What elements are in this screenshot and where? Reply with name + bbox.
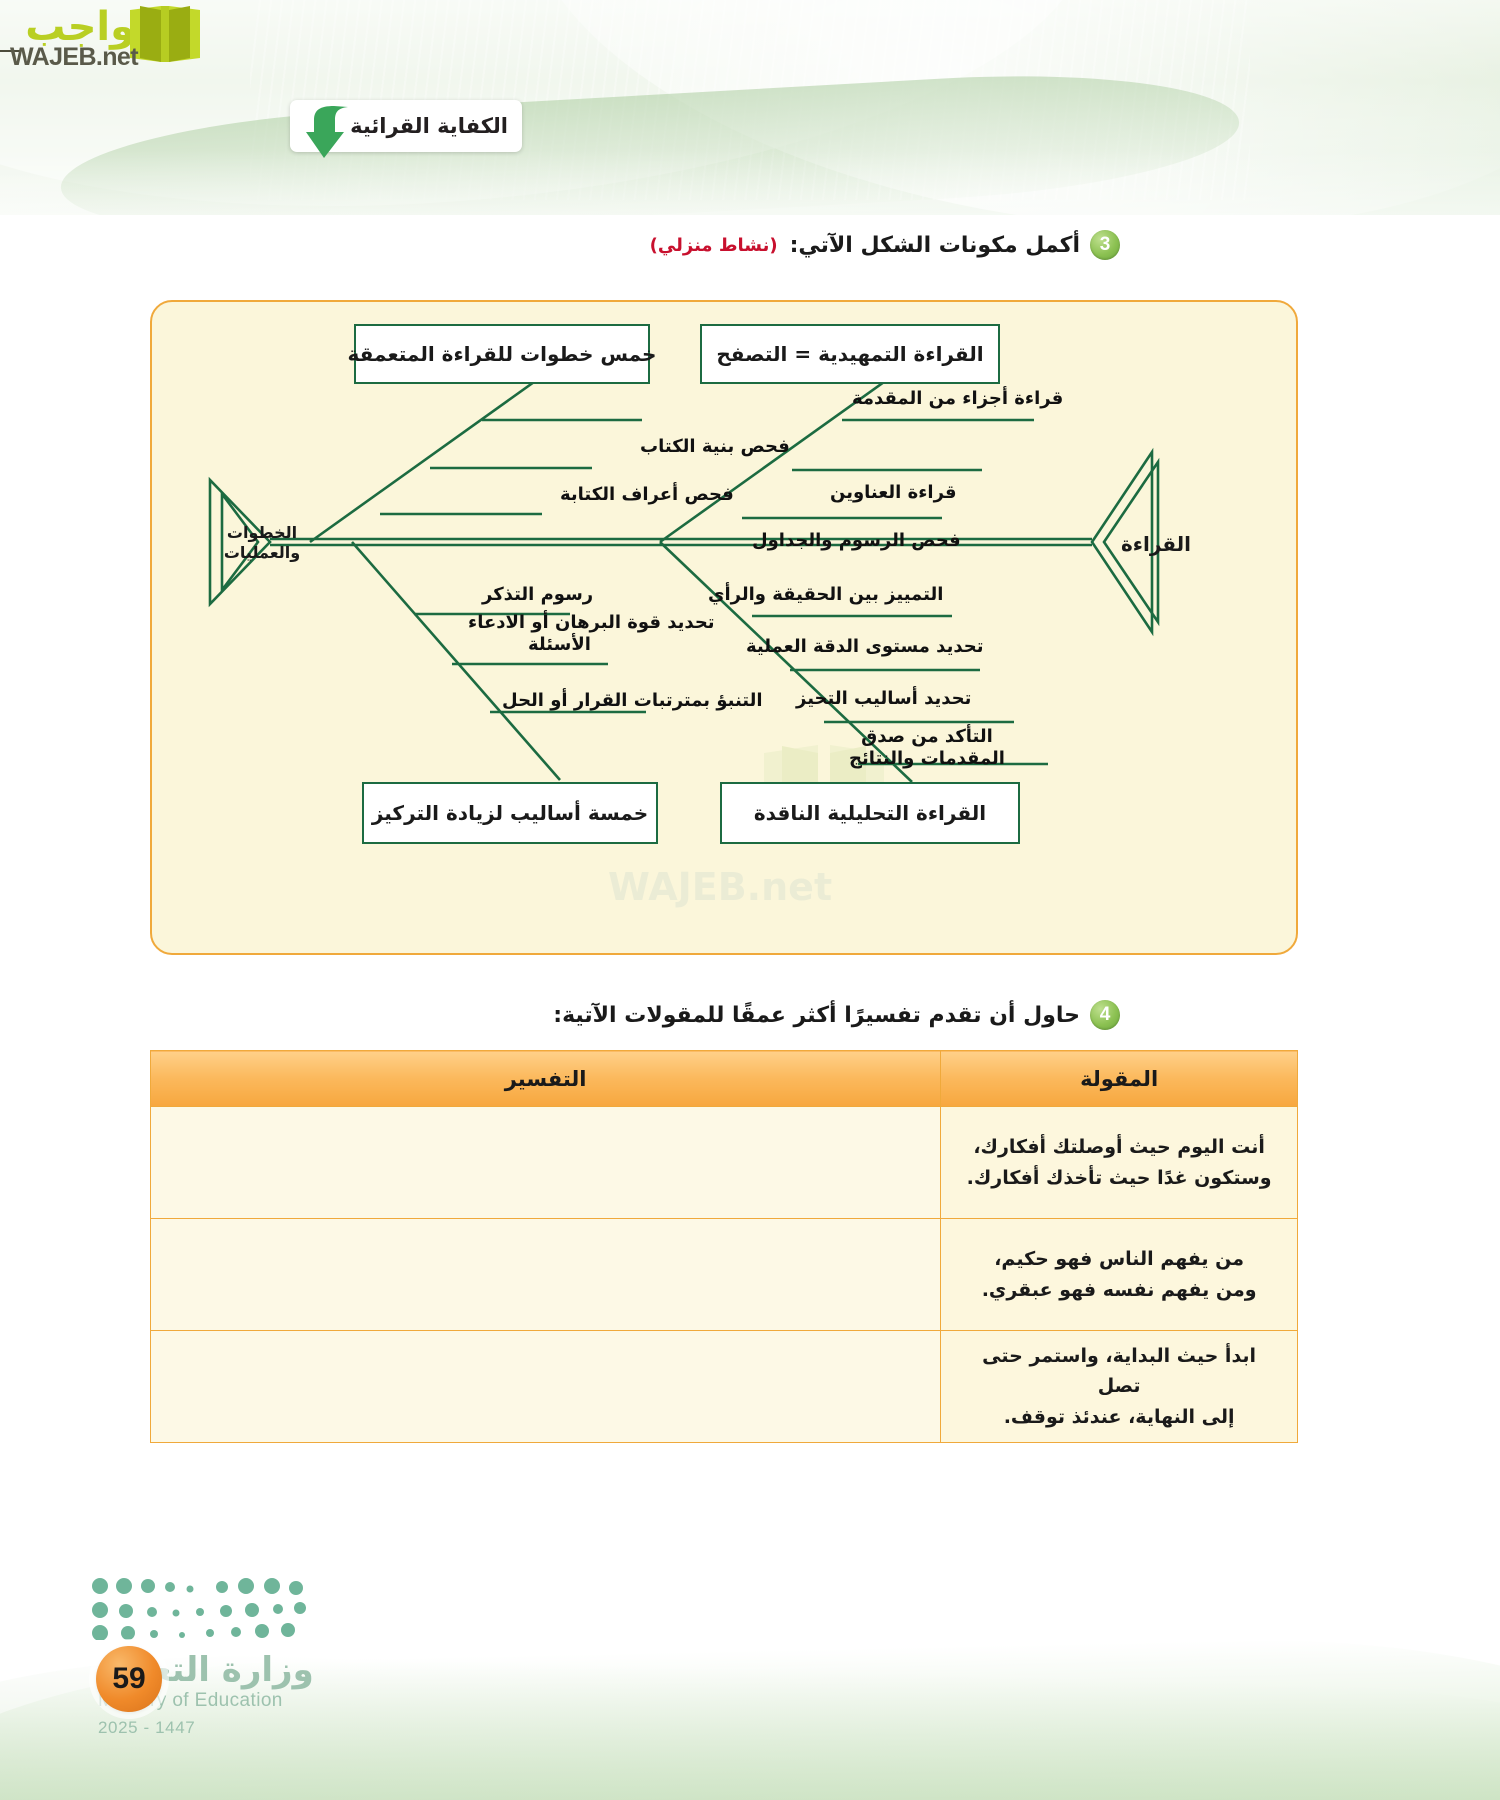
saying-cell-2: من يفهم الناس فهو حكيم، ومن يفهم نفسه فه… [941,1219,1298,1331]
branch-label-fact-opinion: التمييز بين الحقيقة والرأي [708,584,943,606]
branch-label-verify-premises-line-1: التأكد من صدق [861,726,993,747]
fishbone-head-right-label: القراءة [1121,532,1191,557]
branch-label-recall-drawings-text: رسوم التذكر [482,584,593,605]
saying-cell-1: أنت اليوم حيث أوصلتك أفكارك، وستكون غدًا… [941,1107,1298,1219]
fishbone-head-right: القراءة [1110,524,1202,564]
open-book-icon [128,4,202,66]
wajeb-logo: واجب WAJEB.net [8,4,203,79]
task-3-number-badge: 3 [1090,230,1120,260]
branch-label-accuracy-level: تحديد مستوى الدقة العملية [746,636,983,658]
fishbone-box-top-left-label: خمس خطوات للقراءة المتعمقة [348,342,657,366]
page-header-band [0,0,1500,215]
task-4-number-badge: 4 [1090,1000,1120,1030]
down-arrow-icon [304,104,356,160]
branch-label-fact-opinion-text: التمييز بين الحقيقة والرأي [708,584,943,605]
branch-label-accuracy-level-text: تحديد مستوى الدقة العملية [746,636,983,657]
sayings-table-head: المقولة التفسير [151,1051,1298,1107]
branch-label-check-conventions-text: فحص أعراف الكتابة [560,484,734,505]
fishbone-skeleton [152,302,1298,955]
fishbone-box-bottom-left: خمسة أساليب لزيادة التركيز [362,782,658,844]
table-row: من يفهم الناس فهو حكيم، ومن يفهم نفسه فه… [151,1219,1298,1331]
fishbone-box-top-left: خمس خطوات للقراءة المتعمقة [354,324,650,384]
fishbone-box-top-right: القراءة التمهيدية = التصفح [700,324,1000,384]
branch-label-predict-consequences-text: التنبؤ بمترتبات القرار أو الحل [502,690,763,711]
fishbone-box-bottom-left-label: خمسة أساليب لزيادة التركيز [372,801,648,825]
table-row: ابدأ حيث البداية، واستمر حتى تصل إلى الن… [151,1331,1298,1443]
branch-label-proof-strength-text: تحديد قوة البرهان أو الادعاء [468,612,715,633]
fishbone-diagram-panel: واجب WAJEB.net [150,300,1298,955]
branch-label-check-conventions: فحص أعراف الكتابة [560,484,734,506]
branch-label-questions-text: الأسئلة [528,634,591,655]
branch-label-read-headings: قراءة العناوين [830,482,957,504]
branch-label-questions: الأسئلة [528,634,591,656]
saying-1-line-1: أنت اليوم حيث أوصلتك أفكارك، [973,1136,1265,1158]
saying-2-line-1: من يفهم الناس فهو حكيم، [994,1248,1244,1270]
competency-label: الكفاية القرائية [350,114,508,138]
branch-label-predict-consequences: التنبؤ بمترتبات القرار أو الحل [502,690,763,712]
fishbone-box-top-right-label: القراءة التمهيدية = التصفح [716,342,983,366]
fishbone-head-left-line-1: الخطوات [227,523,297,543]
sayings-table-header-row: المقولة التفسير [151,1051,1298,1107]
branch-label-bias-methods: تحديد أساليب التحيز [796,688,971,710]
page-number-badge: 59 [96,1646,162,1712]
task-3-heading: 3 أكمل مكونات الشكل الآتي: (نشاط منزلي) [650,230,1120,260]
branch-label-check-figures-text: فحص الرسوم والجداول [752,530,961,551]
explanation-input-cell-1[interactable] [151,1107,941,1219]
page-root: واجب WAJEB.net الكفاية القرائية 3 أكمل م… [0,0,1500,1800]
branch-label-read-headings-text: قراءة العناوين [830,482,957,503]
saying-1-line-2: وستكون غدًا حيث تأخذك أفكارك. [967,1167,1272,1189]
task-3-text: أكمل مكونات الشكل الآتي: [790,233,1080,258]
table-row: أنت اليوم حيث أوصلتك أفكارك، وستكون غدًا… [151,1107,1298,1219]
explanation-input-cell-2[interactable] [151,1219,941,1331]
branch-label-recall-drawings: رسوم التذكر [482,584,593,606]
ministry-dots-icon [90,1578,310,1640]
sayings-table-body: أنت اليوم حيث أوصلتك أفكارك، وستكون غدًا… [151,1107,1298,1443]
wajeb-tld-text: .net [96,43,138,71]
saying-cell-3: ابدأ حيث البداية، واستمر حتى تصل إلى الن… [941,1331,1298,1443]
saying-3-line-2: إلى النهاية، عندئذ توقف. [1004,1406,1235,1428]
branch-label-intro-parts: قراءة أجزاء من المقدمة [852,388,1063,410]
competency-badge: الكفاية القرائية [290,100,522,152]
header-swoosh-4 [0,150,1500,215]
fishbone-head-left: الخطوات والعمليات [216,520,308,566]
wajeb-domain-wordmark: WAJEB.net [10,43,138,72]
branch-label-bias-methods-text: تحديد أساليب التحيز [796,688,971,709]
saying-2-line-2: ومن يفهم نفسه فهو عبقري. [982,1279,1257,1301]
branch-label-proof-strength: تحديد قوة البرهان أو الادعاء [468,612,715,634]
saying-3-line-1: ابدأ حيث البداية، واستمر حتى تصل [982,1345,1256,1397]
branch-label-intro-parts-text: قراءة أجزاء من المقدمة [852,388,1063,409]
task-3-note: (نشاط منزلي) [650,235,778,256]
fishbone-box-bottom-right-label: القراءة التحليلية الناقدة [754,801,986,825]
branch-label-check-figures: فحص الرسوم والجداول [752,530,961,552]
task-4-heading: 4 حاول أن تقدم تفسيرًا أكثر عمقًا للمقول… [553,1000,1120,1030]
sayings-table: المقولة التفسير أنت اليوم حيث أوصلتك أفك… [150,1050,1298,1443]
branch-label-verify-premises-line-2: المقدمات والنتائج [849,748,1005,769]
wajeb-domain-text: WAJEB [10,43,96,71]
branch-label-check-structure-text: فحص بنية الكتاب [640,436,790,457]
fishbone-head-left-line-2: والعمليات [224,543,300,563]
ministry-years: 2025 - 1447 [98,1718,195,1738]
explanation-input-cell-3[interactable] [151,1331,941,1443]
column-header-saying: المقولة [941,1051,1298,1107]
column-header-explanation: التفسير [151,1051,941,1107]
fishbone-box-bottom-right: القراءة التحليلية الناقدة [720,782,1020,844]
branch-label-verify-premises: التأكد من صدق المقدمات والنتائج [802,726,1052,770]
task-4-text: حاول أن تقدم تفسيرًا أكثر عمقًا للمقولات… [553,1003,1080,1028]
branch-label-check-structure: فحص بنية الكتاب [640,436,790,458]
